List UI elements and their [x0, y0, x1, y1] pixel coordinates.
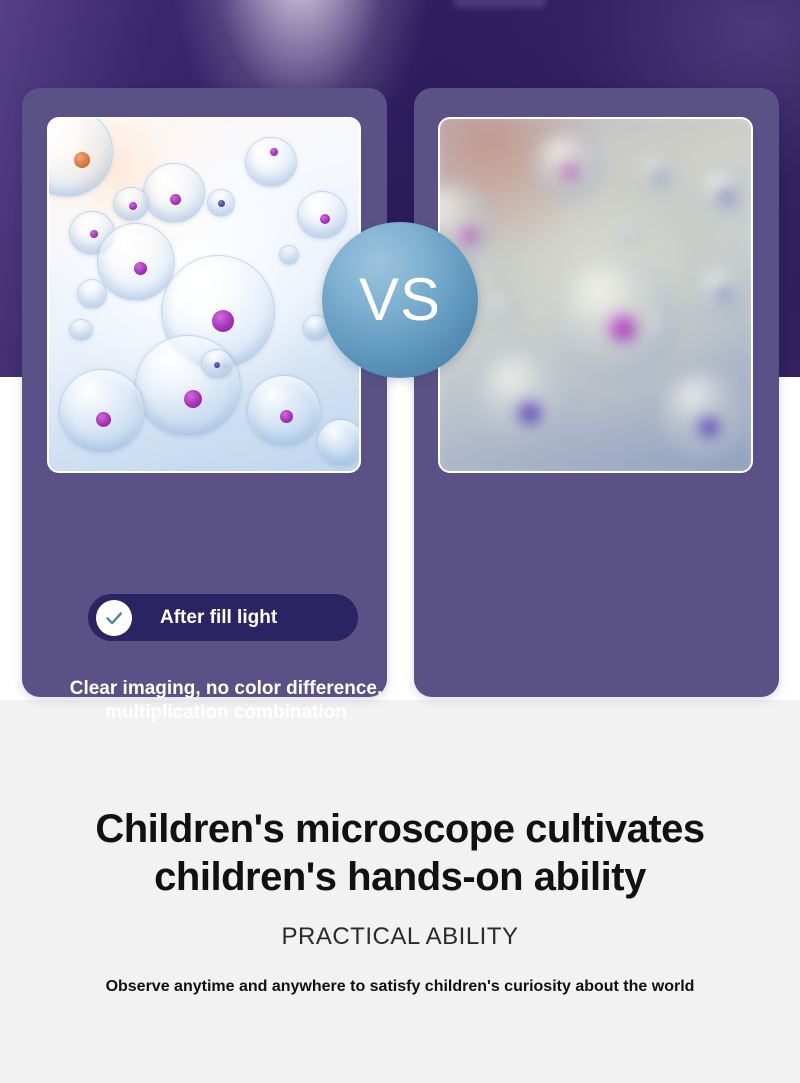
page-headline: Children's microscope cultivates childre… [0, 805, 800, 901]
cell-blob [698, 168, 749, 217]
bottom-text-section: Children's microscope cultivates childre… [0, 805, 800, 996]
cell-nucleus [270, 148, 278, 156]
photo-frame-before [438, 117, 753, 473]
cell-blob [69, 319, 93, 341]
cell-nucleus [212, 310, 234, 332]
cell-blob [486, 295, 516, 323]
comparison-section: After fill light Clear imaging, no color… [0, 0, 800, 700]
cell-blob [698, 267, 747, 314]
cell-nucleus [610, 315, 635, 340]
cell-blob [77, 279, 107, 309]
cell-blob [279, 245, 299, 265]
cell-blob [317, 419, 361, 467]
cell-blob [615, 219, 640, 244]
cell-nucleus [280, 410, 293, 423]
cell-nucleus [214, 362, 220, 368]
comparison-card-before[interactable]: Before fill light Blurred dark, not clea… [414, 88, 779, 697]
check-circle-icon [96, 600, 132, 636]
cell-blob [143, 163, 205, 223]
cell-blob [532, 132, 604, 202]
cell-nucleus [720, 190, 732, 202]
cell-blob [245, 137, 297, 187]
cell-nucleus [654, 171, 662, 179]
card-caption-after: Clear imaging, no color difference, mult… [46, 677, 406, 725]
cell-blob [113, 187, 149, 221]
cell-nucleus [74, 152, 90, 168]
cell-blob [201, 349, 233, 379]
cell-nucleus [170, 194, 181, 205]
page-tagline: Observe anytime and anywhere to satisfy … [0, 978, 800, 996]
cell-nucleus [184, 390, 202, 408]
cell-blob [643, 316, 666, 339]
headline-line-2: children's hands-on ability [154, 855, 646, 899]
cell-nucleus [96, 412, 111, 427]
headline-line-1: Children's microscope cultivates [95, 807, 704, 851]
cell-nucleus [563, 165, 577, 179]
vs-label: VS [359, 270, 441, 330]
cell-nucleus [218, 200, 225, 207]
cell-blob [660, 371, 751, 460]
comparison-card-after[interactable]: After fill light Clear imaging, no color… [22, 88, 387, 697]
vs-badge: VS [322, 222, 478, 378]
cell-blob [638, 155, 676, 193]
cell-blob [207, 189, 235, 217]
cell-nucleus [320, 214, 330, 224]
status-pill-label: After fill light [160, 607, 277, 629]
cell-nucleus [718, 288, 729, 299]
cell-blob [47, 117, 113, 197]
page-subheadline: PRACTICAL ABILITY [0, 923, 800, 951]
cell-nucleus [519, 402, 540, 423]
cell-nucleus [90, 230, 98, 238]
cell-nucleus [699, 417, 718, 436]
cell-nucleus [461, 228, 476, 243]
photo-frame-after [47, 117, 361, 473]
microscope-image-blurred [438, 117, 753, 473]
cell-blob [247, 375, 321, 447]
microscope-image-clear [49, 119, 359, 471]
cell-blob [97, 223, 175, 301]
cell-nucleus [134, 262, 147, 275]
cell-blob [59, 369, 145, 453]
cell-nucleus [129, 202, 137, 210]
cell-blob [297, 191, 347, 239]
cell-blob-large [473, 350, 577, 452]
status-pill-after[interactable]: After fill light [88, 594, 358, 641]
